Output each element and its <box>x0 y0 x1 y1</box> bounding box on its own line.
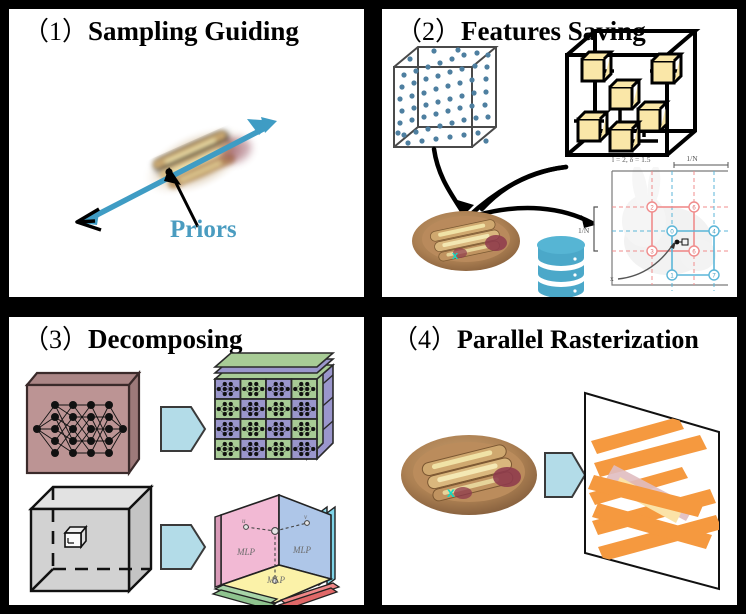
subdivided-mlp-grid-cube-icon <box>215 353 333 459</box>
gray-bounding-cube-icon <box>31 487 151 591</box>
feature-box-cube-icon <box>567 31 695 155</box>
plate-marker-x: x <box>452 250 459 262</box>
mlp-cube-icon <box>27 373 139 473</box>
panel-parallel-rasterization: （4）Parallel Rasterization <box>382 317 737 605</box>
axis-label-u: u <box>242 517 246 525</box>
left-bracket <box>594 207 598 251</box>
raster-stripes-plane <box>585 393 722 589</box>
priors-label: Priors <box>170 216 237 243</box>
features-saving-graphic: x <box>382 9 737 297</box>
grid-front-face <box>215 379 317 459</box>
chevron-arrow-row1 <box>161 407 205 451</box>
grid-label-origin: x <box>610 274 614 283</box>
plate-marker-x-4: x <box>447 484 455 500</box>
panel-features-saving: （2）Features Saving <box>382 9 737 297</box>
parallel-rasterization-graphic: x <box>382 317 737 605</box>
exploded-plane-cube-icon: MLP MLP MLP u v <box>213 495 339 605</box>
hotdog-plate-image-4: x <box>401 435 537 515</box>
plane-label-xy: MLP <box>236 547 256 557</box>
chevron-arrow-4 <box>545 453 585 497</box>
grid-label-top-right: 1/N <box>686 154 698 163</box>
grid-label-top-left: l = 2, δ = 1.5 <box>612 155 651 164</box>
inner-voxel-icon <box>65 527 86 547</box>
dotted-sample-cube-icon <box>394 47 496 147</box>
interpolation-grid-diagram: 26 36 04 17 <box>578 154 730 291</box>
chevron-arrow-row2 <box>161 525 205 569</box>
panel-decomposing: （3）Decomposing <box>9 317 364 605</box>
hotdog-plate-image: x <box>412 211 520 271</box>
plane-label-xz: MLP <box>292 545 312 555</box>
database-cylinder-icon <box>537 236 585 297</box>
sampling-guiding-graphic: Priors <box>9 9 364 297</box>
plane-label-yz: MLP <box>266 575 286 585</box>
figure-root: （1）Sampling Guiding <box>0 0 746 614</box>
grid-label-left: 1/N <box>578 226 590 235</box>
decomposing-graphic: MLP MLP MLP u v <box>9 317 364 605</box>
panel-sampling-guiding: （1）Sampling Guiding <box>9 9 364 297</box>
